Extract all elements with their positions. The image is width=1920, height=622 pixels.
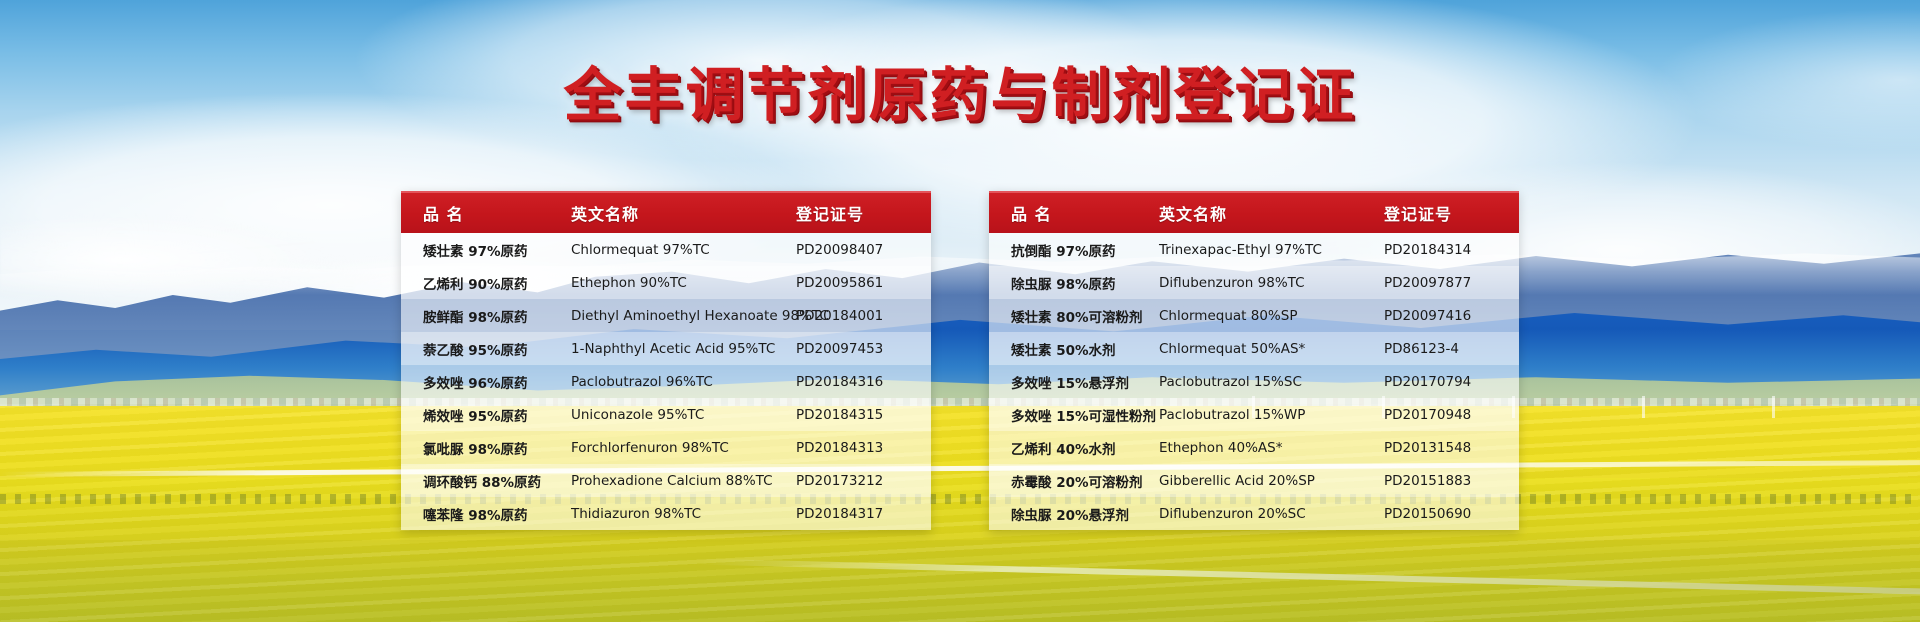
cell-registration-no: PD20184316 (796, 374, 931, 390)
cell-registration-no: PD86123-4 (1384, 341, 1519, 357)
formulation-table: 品 名 英文名称 登记证号 抗倒酯 97%原药 Trinexapac-Ethyl… (989, 191, 1519, 530)
cell-registration-no: PD20150690 (1384, 506, 1519, 522)
cell-product-name: 乙烯利 90%原药 (401, 273, 571, 293)
table-row: 乙烯利 40%水剂 Ethephon 40%AS* PD20131548 (989, 431, 1519, 464)
cell-english-name: Paclobutrazol 15%WP (1159, 407, 1384, 423)
table-row: 氯吡脲 98%原药 Forchlorfenuron 98%TC PD201843… (401, 431, 931, 464)
technical-grade-table: 品 名 英文名称 登记证号 矮壮素 97%原药 Chlormequat 97%T… (401, 191, 931, 530)
table-header-row: 品 名 英文名称 登记证号 (989, 191, 1519, 233)
cell-registration-no: PD20184315 (796, 407, 931, 423)
cell-english-name: Trinexapac-Ethyl 97%TC (1159, 242, 1384, 258)
cell-english-name: Uniconazole 95%TC (571, 407, 796, 423)
table-row: 噻苯隆 98%原药 Thidiazuron 98%TC PD20184317 (401, 497, 931, 530)
table-row: 除虫脲 98%原药 Diflubenzuron 98%TC PD20097877 (989, 266, 1519, 299)
cell-english-name: Forchlorfenuron 98%TC (571, 440, 796, 456)
cell-product-name: 噻苯隆 98%原药 (401, 504, 571, 524)
cell-registration-no: PD20098407 (796, 242, 931, 258)
table-row: 抗倒酯 97%原药 Trinexapac-Ethyl 97%TC PD20184… (989, 233, 1519, 266)
cell-registration-no: PD20173212 (796, 473, 931, 489)
cell-registration-no: PD20170948 (1384, 407, 1519, 423)
table-row: 胺鲜酯 98%原药 Diethyl Aminoethyl Hexanoate 9… (401, 299, 931, 332)
cell-registration-no: PD20151883 (1384, 473, 1519, 489)
cell-product-name: 萘乙酸 95%原药 (401, 339, 571, 359)
cell-product-name: 乙烯利 40%水剂 (989, 438, 1159, 458)
table-row: 多效唑 15%悬浮剂 Paclobutrazol 15%SC PD2017079… (989, 365, 1519, 398)
cell-product-name: 多效唑 15%悬浮剂 (989, 372, 1159, 392)
cell-product-name: 除虫脲 98%原药 (989, 273, 1159, 293)
cell-english-name: Chlormequat 80%SP (1159, 308, 1384, 324)
cell-english-name: Gibberellic Acid 20%SP (1159, 473, 1384, 489)
table-row: 矮壮素 97%原药 Chlormequat 97%TC PD20098407 (401, 233, 931, 266)
cell-english-name: Thidiazuron 98%TC (571, 506, 796, 522)
cell-product-name: 矮壮素 50%水剂 (989, 339, 1159, 359)
cell-product-name: 调环酸钙 88%原药 (401, 471, 571, 491)
table-row: 除虫脲 20%悬浮剂 Diflubenzuron 20%SC PD2015069… (989, 497, 1519, 530)
cell-english-name: Chlormequat 50%AS* (1159, 341, 1384, 357)
cell-english-name: Paclobutrazol 15%SC (1159, 374, 1384, 390)
cell-registration-no: PD20184001 (796, 308, 931, 324)
column-header-product-name: 品 名 (401, 201, 571, 225)
table-row: 矮壮素 50%水剂 Chlormequat 50%AS* PD86123-4 (989, 332, 1519, 365)
promotional-banner: 全丰调节剂原药与制剂登记证 品 名 英文名称 登记证号 矮壮素 97%原药 Ch… (0, 0, 1920, 622)
cell-english-name: Diflubenzuron 98%TC (1159, 275, 1384, 291)
cell-registration-no: PD20184313 (796, 440, 931, 456)
cell-english-name: 1-Naphthyl Acetic Acid 95%TC (571, 341, 796, 357)
table-header-row: 品 名 英文名称 登记证号 (401, 191, 931, 233)
cell-english-name: Diethyl Aminoethyl Hexanoate 98%TC (571, 308, 796, 324)
cell-english-name: Ethephon 90%TC (571, 275, 796, 291)
column-header-registration-no: 登记证号 (1384, 201, 1519, 225)
table-row: 多效唑 96%原药 Paclobutrazol 96%TC PD20184316 (401, 365, 931, 398)
cell-product-name: 赤霉酸 20%可溶粉剂 (989, 471, 1159, 491)
column-header-product-name: 品 名 (989, 201, 1159, 225)
cell-english-name: Ethephon 40%AS* (1159, 440, 1384, 456)
table-row: 乙烯利 90%原药 Ethephon 90%TC PD20095861 (401, 266, 931, 299)
cell-product-name: 氯吡脲 98%原药 (401, 438, 571, 458)
cell-product-name: 烯效唑 95%原药 (401, 405, 571, 425)
cell-product-name: 除虫脲 20%悬浮剂 (989, 504, 1159, 524)
cell-registration-no: PD20184317 (796, 506, 931, 522)
cell-registration-no: PD20097877 (1384, 275, 1519, 291)
cell-english-name: Chlormequat 97%TC (571, 242, 796, 258)
table-row: 多效唑 15%可湿性粉剂 Paclobutrazol 15%WP PD20170… (989, 398, 1519, 431)
cell-product-name: 矮壮素 97%原药 (401, 240, 571, 260)
cell-registration-no: PD20170794 (1384, 374, 1519, 390)
column-header-registration-no: 登记证号 (796, 201, 931, 225)
table-row: 赤霉酸 20%可溶粉剂 Gibberellic Acid 20%SP PD201… (989, 464, 1519, 497)
cell-registration-no: PD20095861 (796, 275, 931, 291)
column-header-english-name: 英文名称 (1159, 201, 1384, 225)
column-header-english-name: 英文名称 (571, 201, 796, 225)
cell-english-name: Prohexadione Calcium 88%TC (571, 473, 796, 489)
cell-english-name: Paclobutrazol 96%TC (571, 374, 796, 390)
cell-registration-no: PD20097416 (1384, 308, 1519, 324)
table-row: 矮壮素 80%可溶粉剂 Chlormequat 80%SP PD20097416 (989, 299, 1519, 332)
table-row: 烯效唑 95%原药 Uniconazole 95%TC PD20184315 (401, 398, 931, 431)
cell-product-name: 胺鲜酯 98%原药 (401, 306, 571, 326)
cell-product-name: 抗倒酯 97%原药 (989, 240, 1159, 260)
page-title: 全丰调节剂原药与制剂登记证 (0, 64, 1920, 126)
cell-product-name: 矮壮素 80%可溶粉剂 (989, 306, 1159, 326)
cell-product-name: 多效唑 15%可湿性粉剂 (989, 405, 1159, 425)
cell-registration-no: PD20184314 (1384, 242, 1519, 258)
registration-tables: 品 名 英文名称 登记证号 矮壮素 97%原药 Chlormequat 97%T… (0, 191, 1920, 530)
cell-english-name: Diflubenzuron 20%SC (1159, 506, 1384, 522)
table-row: 萘乙酸 95%原药 1-Naphthyl Acetic Acid 95%TC P… (401, 332, 931, 365)
cell-registration-no: PD20097453 (796, 341, 931, 357)
cell-product-name: 多效唑 96%原药 (401, 372, 571, 392)
cell-registration-no: PD20131548 (1384, 440, 1519, 456)
table-row: 调环酸钙 88%原药 Prohexadione Calcium 88%TC PD… (401, 464, 931, 497)
